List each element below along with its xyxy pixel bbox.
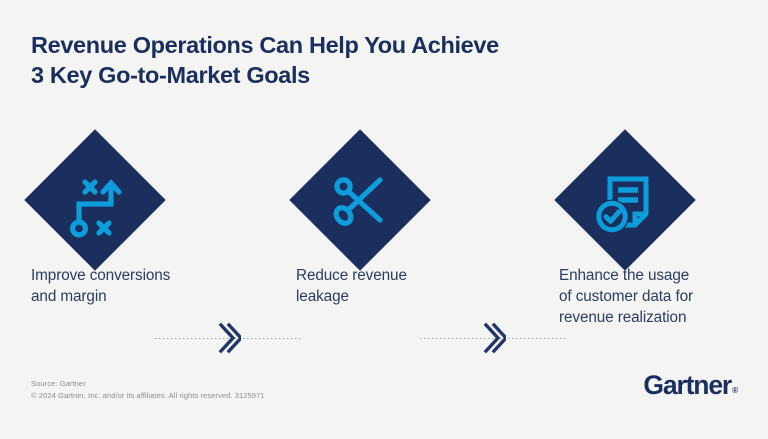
step-1-label-line-1: Improve conversions (31, 265, 261, 286)
registered-trademark-icon: ® (732, 386, 738, 395)
gartner-logo: Gartner ® (643, 372, 738, 398)
step-2 (298, 138, 422, 262)
footer-source-line: Source: Gartner (31, 378, 265, 390)
connector-2 (420, 334, 566, 343)
strategy-playbook-icon (33, 138, 157, 262)
page-title-line-2: 3 Key Go-to-Market Goals (31, 60, 651, 90)
footer-attribution: Source: Gartner © 2024 Gartner, Inc. and… (31, 378, 265, 402)
footer-copyright-line: © 2024 Gartner, Inc. and/or its affiliat… (31, 390, 265, 402)
step-3-label-line-3: revenue realization (559, 307, 768, 328)
gartner-logo-wordmark: Gartner (643, 372, 731, 399)
double-chevron-right-icon (480, 318, 506, 358)
step-2-label: Reduce revenue leakage (296, 265, 526, 307)
page-title-line-1: Revenue Operations Can Help You Achieve (31, 30, 651, 60)
step-1 (33, 138, 157, 262)
document-check-icon (563, 138, 687, 262)
infographic-canvas: Revenue Operations Can Help You Achieve … (0, 0, 768, 439)
step-2-label-line-2: leakage (296, 286, 526, 307)
connector-1 (155, 334, 301, 343)
steps-row (0, 138, 768, 262)
step-3-label: Enhance the usage of customer data for r… (559, 265, 768, 328)
scissors-icon (298, 138, 422, 262)
step-2-label-line-1: Reduce revenue (296, 265, 526, 286)
step-1-label-line-2: and margin (31, 286, 261, 307)
double-chevron-right-icon (215, 318, 241, 358)
step-3-label-line-2: of customer data for (559, 286, 768, 307)
page-title: Revenue Operations Can Help You Achieve … (31, 30, 651, 90)
step-3-label-line-1: Enhance the usage (559, 265, 768, 286)
step-1-label: Improve conversions and margin (31, 265, 261, 307)
step-3 (563, 138, 687, 262)
